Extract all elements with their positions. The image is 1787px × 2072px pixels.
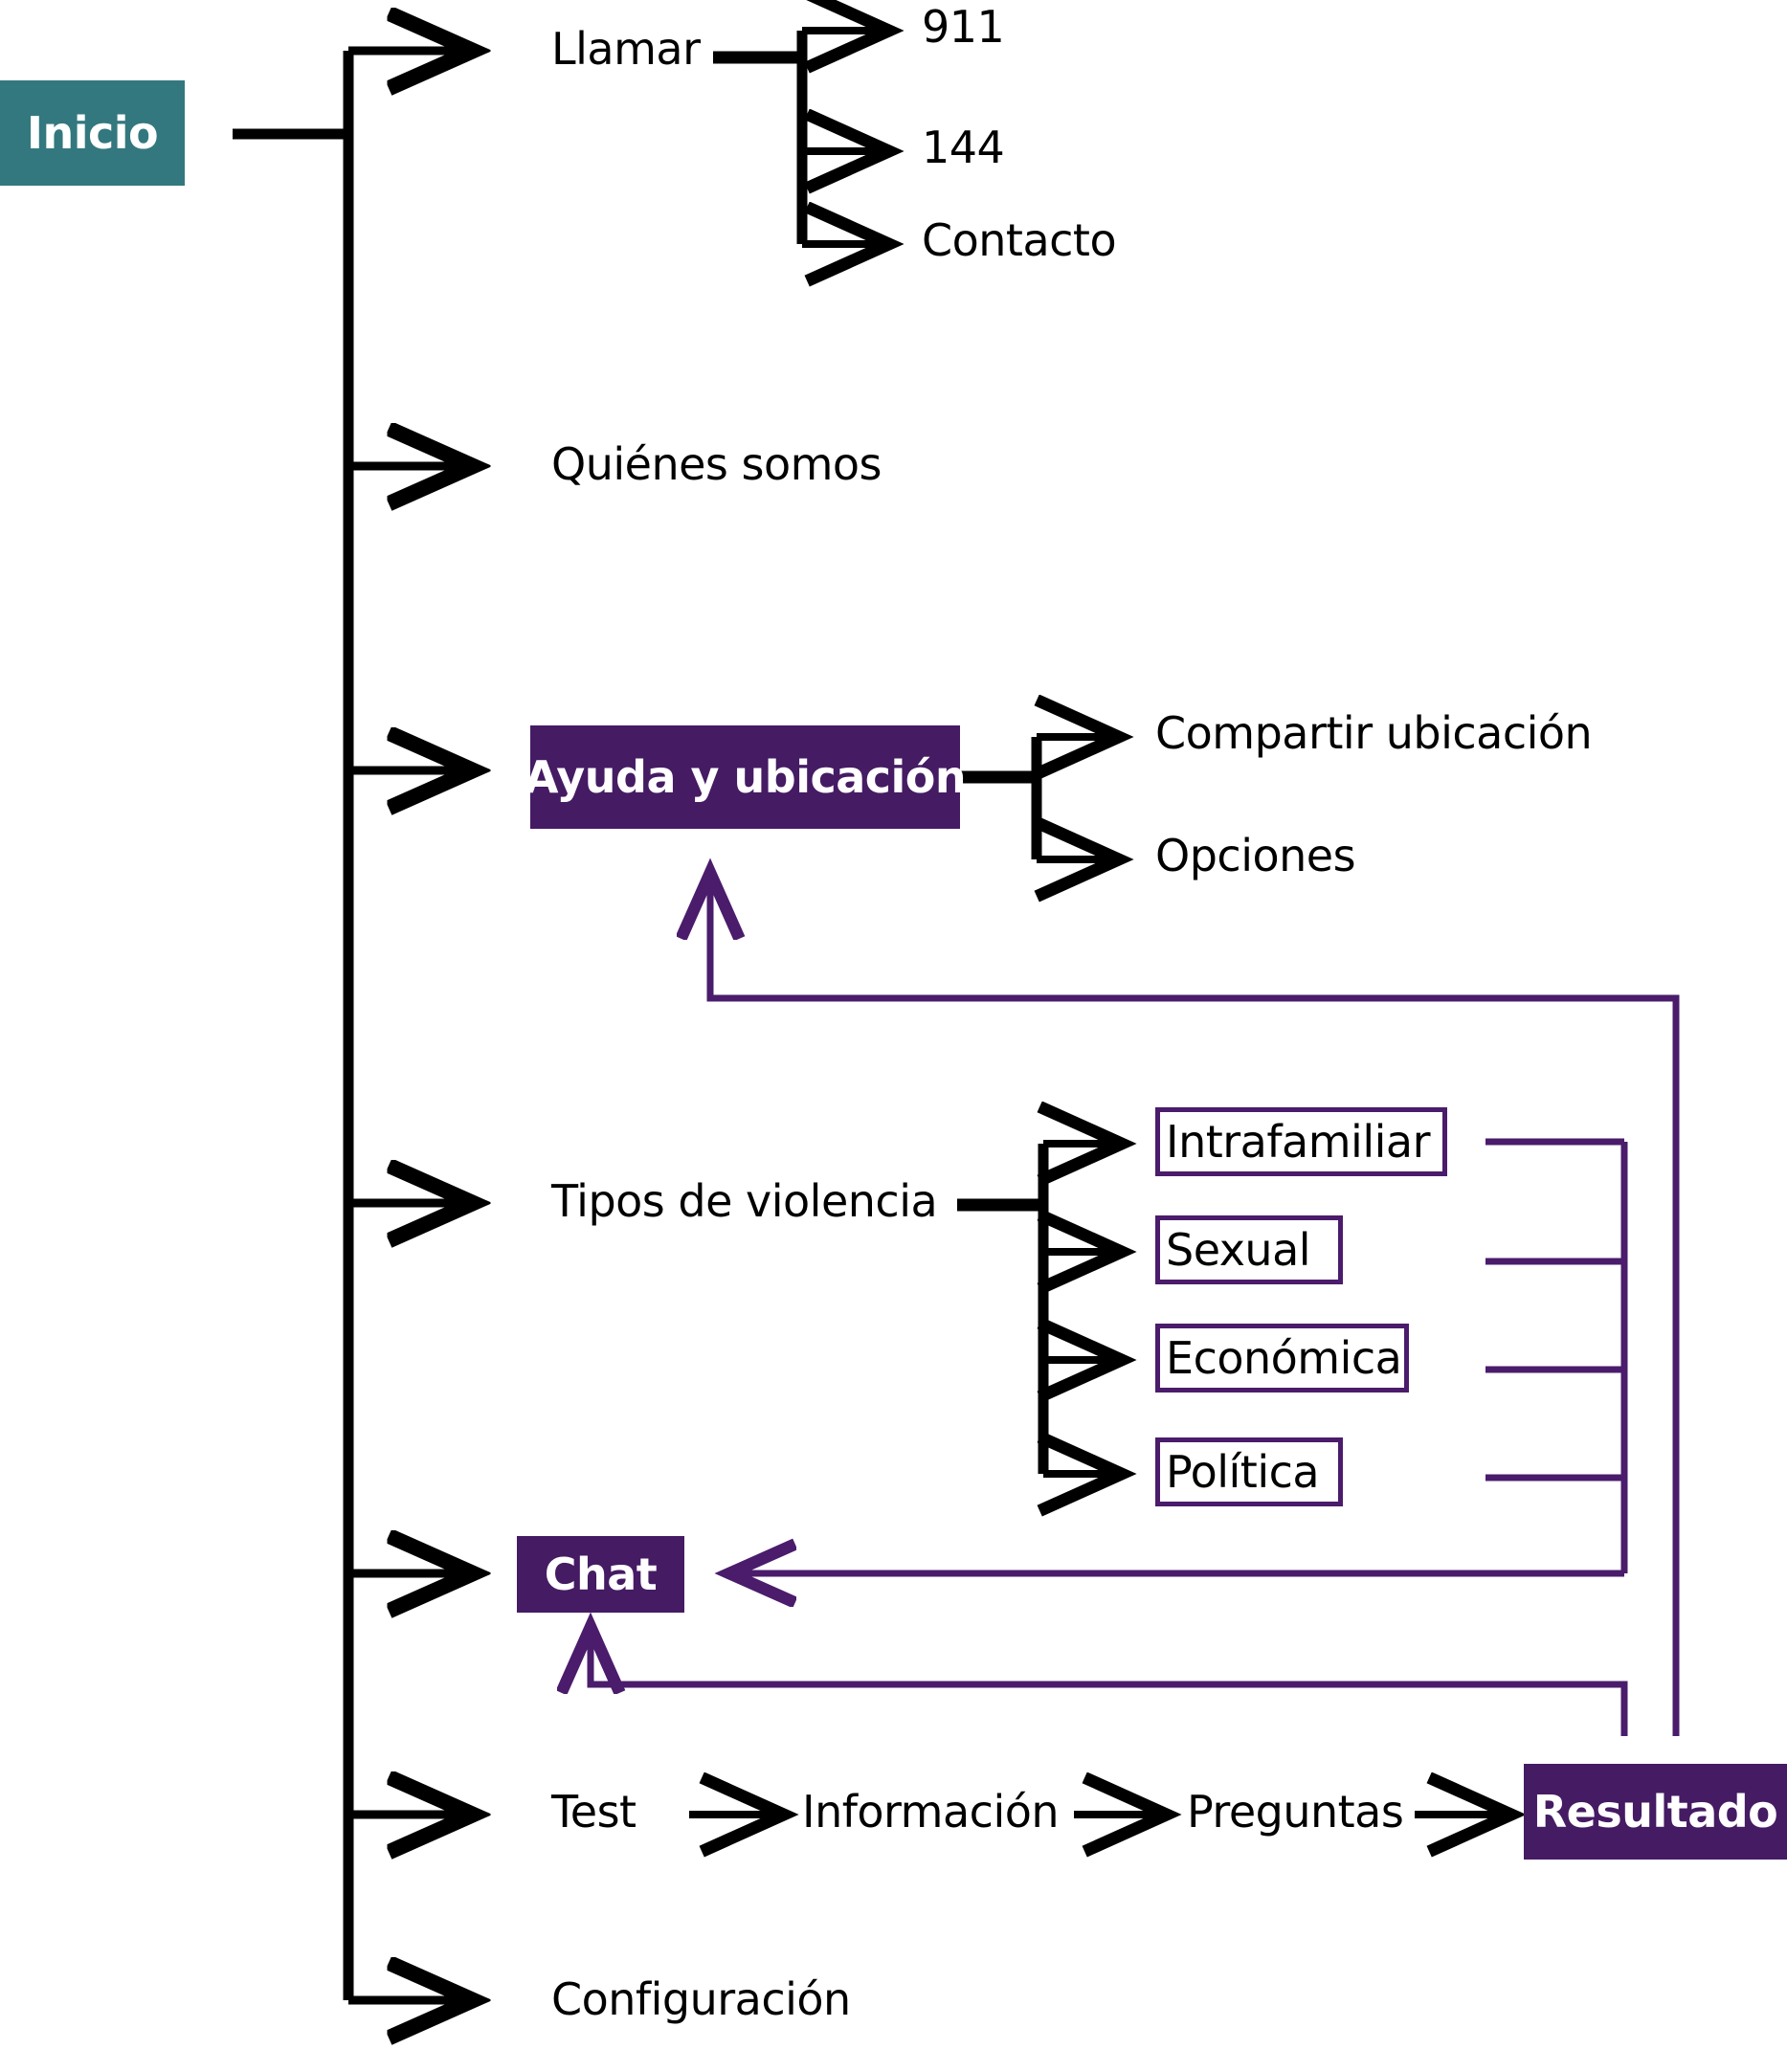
node-test[interactable]: Test <box>551 1790 637 1834</box>
node-quienes-somos[interactable]: Quiénes somos <box>551 442 882 486</box>
node-resultado[interactable]: Resultado <box>1524 1764 1787 1860</box>
connector-layer <box>0 0 1787 2072</box>
node-144[interactable]: 144 <box>922 125 1004 169</box>
node-sexual[interactable]: Sexual <box>1155 1215 1343 1284</box>
node-inicio[interactable]: Inicio <box>0 80 185 186</box>
node-informacion[interactable]: Información <box>802 1790 1059 1834</box>
flowchart-canvas: Inicio Llamar Quiénes somos Ayuda y ubic… <box>0 0 1787 2072</box>
purple-arrow-resultado-to-chat <box>591 1627 1624 1736</box>
node-ayuda-y-ubicacion[interactable]: Ayuda y ubicación <box>530 725 960 829</box>
node-compartir-ubicacion[interactable]: Compartir ubicación <box>1155 711 1592 755</box>
node-tipos-de-violencia[interactable]: Tipos de violencia <box>551 1179 937 1223</box>
node-911[interactable]: 911 <box>922 5 1004 49</box>
node-chat[interactable]: Chat <box>517 1536 684 1613</box>
node-economica[interactable]: Económica <box>1155 1324 1409 1392</box>
purple-arrow-resultado-to-ayuda <box>710 873 1676 1736</box>
node-opciones[interactable]: Opciones <box>1155 834 1355 878</box>
node-configuracion[interactable]: Configuración <box>551 1977 851 2021</box>
node-llamar[interactable]: Llamar <box>551 27 701 71</box>
node-preguntas[interactable]: Preguntas <box>1187 1790 1403 1834</box>
node-politica[interactable]: Política <box>1155 1437 1343 1506</box>
node-intrafamiliar[interactable]: Intrafamiliar <box>1155 1107 1447 1176</box>
node-contacto[interactable]: Contacto <box>922 218 1116 262</box>
